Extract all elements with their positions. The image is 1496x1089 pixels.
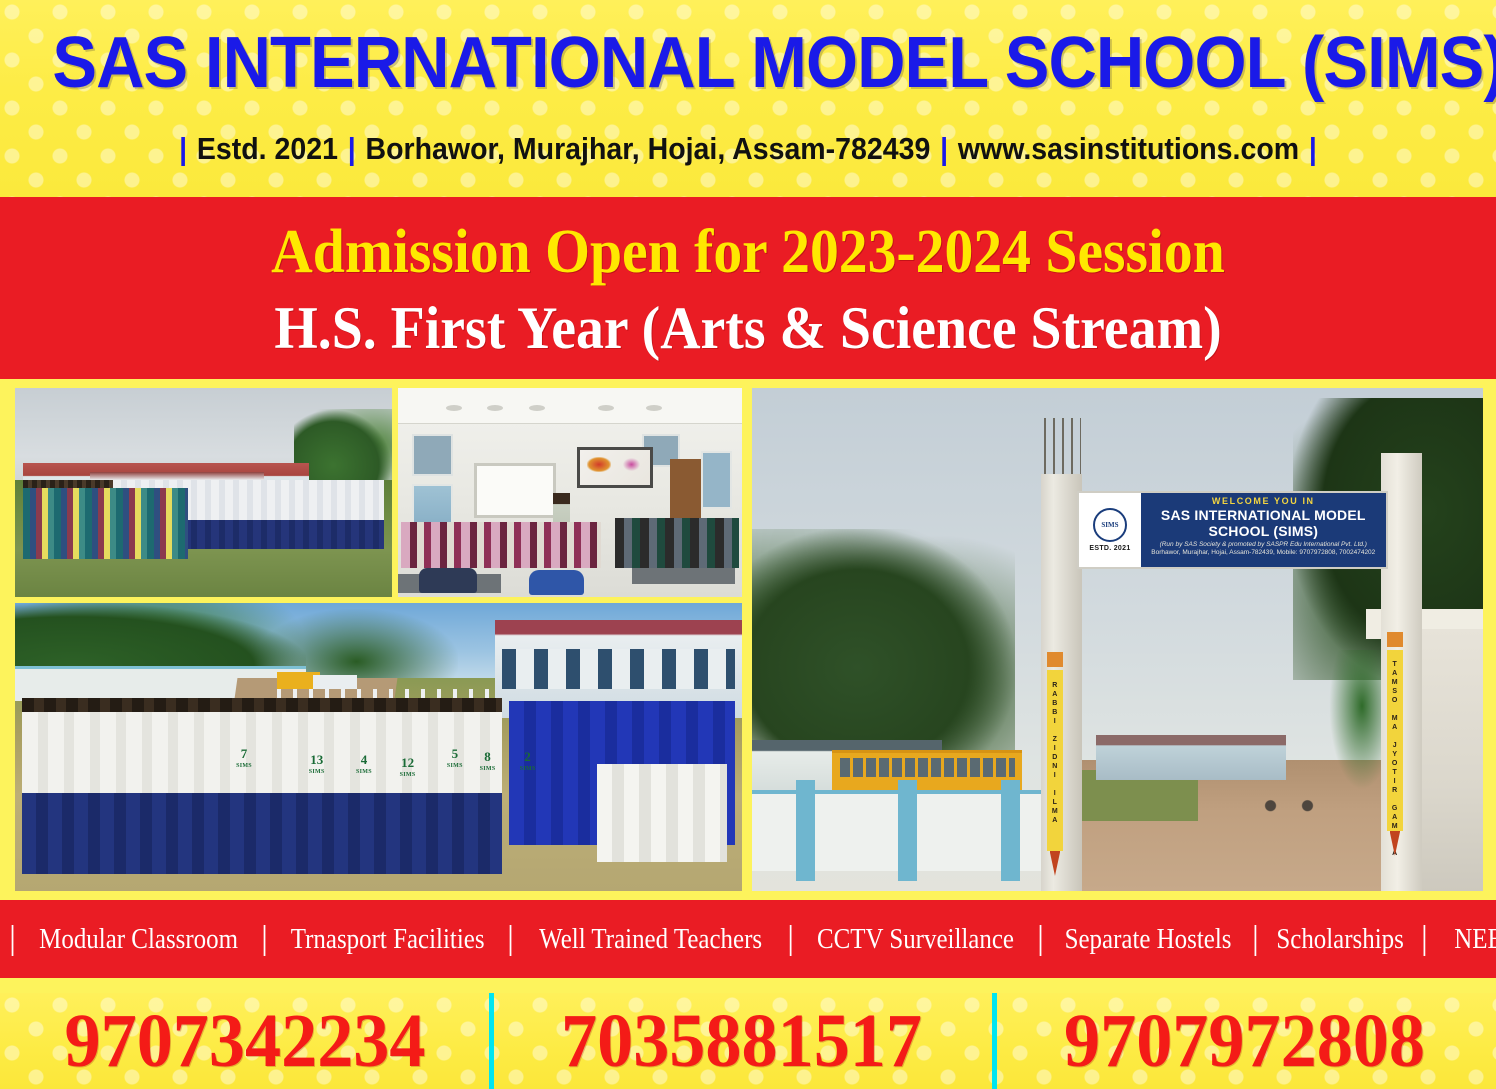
gate-banner-logo-area: SIMS ESTD. 2021 bbox=[1079, 493, 1140, 567]
school-bag bbox=[419, 568, 477, 593]
feature-separator-5: | bbox=[1037, 922, 1044, 956]
pillar-motto-plate-right: TAMSO MA JYOTIR GAMAYA bbox=[1387, 650, 1404, 831]
pillar-plate-cap-right bbox=[1387, 632, 1404, 647]
screen-graphic-left bbox=[587, 457, 611, 472]
classroom-desk bbox=[632, 568, 735, 585]
feature-separator-4: | bbox=[787, 922, 794, 956]
phone-number-3[interactable]: 9707972808 bbox=[1006, 993, 1484, 1089]
building-windows bbox=[502, 649, 735, 689]
wall-post bbox=[898, 780, 917, 881]
projector-screen bbox=[577, 447, 653, 489]
contact-phone-bar: 9707342234 7035881517 9707972808 bbox=[0, 993, 1496, 1089]
left-window-upper bbox=[412, 434, 453, 476]
photo-collage: RABBI ZIDNI ILMA TAMSO MA JYOTIR GAMAYA … bbox=[0, 379, 1496, 900]
wall-post bbox=[796, 780, 815, 881]
feature-item: Trnasport Facilities bbox=[285, 922, 491, 956]
estd-label: Estd. 2021 bbox=[197, 131, 338, 166]
feature-separator-2: | bbox=[261, 922, 268, 956]
pillar-motto-left-text: RABBI ZIDNI ILMA bbox=[1047, 681, 1064, 825]
teachers-row bbox=[23, 488, 189, 559]
photo-students-gathering: 7SIMS 13SIMS 4SIMS 12SIMS 5SIMS 8SIMS 2S… bbox=[15, 603, 742, 891]
phone-divider-2 bbox=[992, 993, 997, 1089]
ceiling-light-icon bbox=[446, 405, 462, 411]
pillar-motto-plate-left: RABBI ZIDNI ILMA bbox=[1047, 670, 1064, 851]
right-window-lower bbox=[701, 451, 732, 510]
feature-item: CCTV Surveillance bbox=[811, 922, 1020, 956]
admission-subheadline: H.S. First Year (Arts & Science Stream) bbox=[52, 291, 1443, 365]
screen-graphic-right bbox=[623, 458, 640, 471]
jersey-number: 8SIMS bbox=[469, 750, 505, 776]
gate-welcome-banner: SIMS ESTD. 2021 WELCOME YOU IN SAS INTER… bbox=[1077, 491, 1388, 569]
feature-item: Separate Hostels bbox=[1058, 922, 1237, 956]
poster-header: SAS INTERNATIONAL MODEL SCHOOL (SIMS) | … bbox=[0, 0, 1496, 197]
gate-banner-school-name: SAS INTERNATIONAL MODEL SCHOOL (SIMS) bbox=[1145, 507, 1382, 539]
feature-item: Modular Classroom bbox=[33, 922, 244, 956]
jersey-number: 12SIMS bbox=[389, 756, 425, 782]
feature-item: Scholarships bbox=[1270, 922, 1410, 956]
classroom-door bbox=[670, 459, 701, 526]
feature-separator-6: | bbox=[1252, 922, 1259, 956]
bus-windows bbox=[840, 758, 1015, 777]
ceiling-light-icon bbox=[529, 405, 545, 411]
phone-number-1[interactable]: 9707342234 bbox=[12, 993, 478, 1089]
feature-item: NEET & JEE Coaching bbox=[1448, 922, 1496, 956]
admission-poster: SAS INTERNATIONAL MODEL SCHOOL (SIMS) | … bbox=[0, 0, 1496, 1089]
website-label[interactable]: www.sasinstitutions.com bbox=[958, 131, 1299, 166]
whiteboard bbox=[474, 463, 557, 517]
students-right-group bbox=[615, 518, 739, 568]
jersey-number: 7SIMS bbox=[226, 747, 262, 773]
pillar-arrow-left-icon bbox=[1047, 851, 1064, 876]
school-seal-icon: SIMS bbox=[1093, 508, 1127, 542]
phone-divider-1 bbox=[489, 993, 494, 1089]
pillar-arrow-right-icon bbox=[1387, 831, 1404, 856]
ceiling-light-icon bbox=[598, 405, 614, 411]
photo-school-main-gate: RABBI ZIDNI ILMA TAMSO MA JYOTIR GAMAYA … bbox=[752, 388, 1483, 891]
girls-white-uniform-row bbox=[597, 764, 728, 862]
feature-item: Well Trained Teachers bbox=[533, 922, 768, 956]
phone-number-2[interactable]: 7035881517 bbox=[503, 993, 981, 1089]
ceiling-light-icon bbox=[646, 405, 662, 411]
pillar-motto-right-text: TAMSO MA JYOTIR GAMAYA bbox=[1387, 660, 1404, 858]
jersey-number: 4SIMS bbox=[346, 753, 382, 779]
admission-banner: Admission Open for 2023-2024 Session H.S… bbox=[0, 197, 1496, 379]
pillar-steel-rods bbox=[1044, 418, 1081, 478]
bicycle bbox=[1256, 770, 1322, 820]
ceiling-light-icon bbox=[487, 405, 503, 411]
gate-banner-address: Borhawor, Murajhar, Hojai, Assam-782439,… bbox=[1145, 549, 1382, 556]
gate-banner-text-area: WELCOME YOU IN SAS INTERNATIONAL MODEL S… bbox=[1141, 493, 1386, 567]
gate-banner-estd: ESTD. 2021 bbox=[1089, 545, 1130, 552]
feature-separator-1: | bbox=[9, 922, 16, 956]
address-label: Borhawor, Murajhar, Hojai, Assam-782439 bbox=[366, 131, 931, 166]
photo-smart-classroom bbox=[398, 388, 742, 597]
jersey-number: 13SIMS bbox=[299, 753, 335, 779]
divider-bar-3: | bbox=[938, 131, 950, 166]
boys-navy-trousers-row bbox=[22, 793, 502, 874]
divider-bar-4: | bbox=[1307, 131, 1319, 166]
jersey-number: 2SIMS bbox=[509, 750, 545, 776]
features-bar: |Best Infrastructure|Modular Classroom|T… bbox=[0, 900, 1496, 978]
gate-banner-welcome: WELCOME YOU IN bbox=[1145, 496, 1382, 506]
school-bag bbox=[529, 570, 584, 595]
divider-bar-1: | bbox=[177, 131, 189, 166]
jersey-number: 5SIMS bbox=[437, 747, 473, 773]
admission-headline: Admission Open for 2023-2024 Session bbox=[52, 215, 1443, 289]
gate-banner-runby: (Run by SAS Society & promoted by SASPR … bbox=[1145, 541, 1382, 548]
photo-morning-assembly bbox=[15, 388, 392, 597]
divider-bar-2: | bbox=[346, 131, 358, 166]
school-van bbox=[313, 675, 357, 689]
pillar-plate-cap-left bbox=[1047, 652, 1064, 667]
school-name-title: SAS INTERNATIONAL MODEL SCHOOL (SIMS) bbox=[52, 20, 1443, 106]
school-info-line: | Estd. 2021 | Borhawor, Murajhar, Hojai… bbox=[60, 128, 1436, 170]
feature-separator-7: | bbox=[1421, 922, 1428, 956]
tree-cluster-left bbox=[752, 529, 1015, 760]
feature-separator-3: | bbox=[507, 922, 514, 956]
students-left-group bbox=[401, 522, 601, 568]
wall-post bbox=[1001, 780, 1020, 881]
